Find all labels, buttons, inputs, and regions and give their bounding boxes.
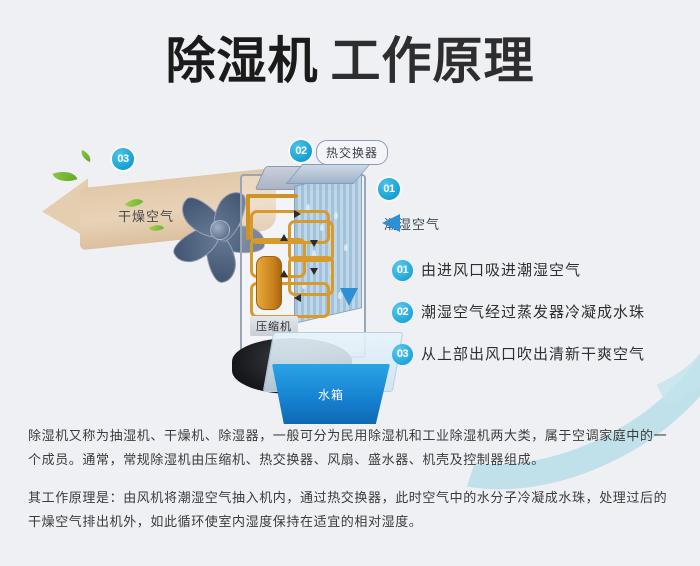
page-title: 除湿机工作原理 bbox=[0, 30, 700, 92]
water-tank-label: 水箱 bbox=[318, 386, 344, 403]
step-item-01: 01 由进风口吸进潮湿空气 bbox=[392, 258, 692, 300]
infographic-page: 除湿机工作原理 干燥空气 潮湿空气 03 02 01 热交换器 bbox=[0, 0, 700, 566]
heat-exchanger-callout: 热交换器 bbox=[316, 140, 388, 165]
flow-arrow-down bbox=[310, 268, 318, 275]
flow-arrow-right bbox=[294, 210, 301, 218]
steps-list: 01 由进风口吸进潮湿空气 02 潮湿空气经过蒸发器冷凝成水珠 03 从上部出风… bbox=[392, 258, 692, 384]
diagram-badge-02: 02 bbox=[290, 140, 312, 162]
step-badge-01: 01 bbox=[392, 260, 413, 281]
water-droplet bbox=[334, 212, 338, 219]
flow-arrow-left bbox=[294, 294, 301, 302]
title-part-2: 工作原理 bbox=[331, 33, 535, 89]
step-text-02: 潮湿空气经过蒸发器冷凝成水珠 bbox=[421, 301, 645, 322]
refrigerant-pipe bbox=[246, 194, 250, 240]
flow-arrow-up bbox=[280, 234, 288, 241]
fan-hub bbox=[210, 220, 230, 240]
diagram-badge-03: 03 bbox=[112, 148, 134, 170]
step-badge-02: 02 bbox=[392, 302, 413, 323]
description-paragraph-1: 除湿机又称为抽湿机、干燥机、除湿器，一般可分为民用除湿机和工业除湿机两大类，属于… bbox=[28, 424, 676, 472]
refrigerant-pipe bbox=[246, 194, 298, 198]
description-paragraph-2: 其工作原理是：由风机将潮湿空气抽入机内，通过热交换器，此时空气中的水分子冷凝成水… bbox=[28, 486, 676, 534]
title-part-1: 除湿机 bbox=[166, 33, 319, 89]
step-badge-03: 03 bbox=[392, 344, 413, 365]
water-droplet bbox=[344, 244, 348, 251]
leaf-icon bbox=[79, 150, 93, 162]
compressor-cylinder bbox=[256, 256, 282, 310]
step-text-01: 由进风口吸进潮湿空气 bbox=[421, 259, 581, 280]
dry-air-label: 干燥空气 bbox=[118, 206, 174, 225]
condensate-arrow bbox=[340, 288, 358, 306]
step-item-02: 02 潮湿空气经过蒸发器冷凝成水珠 bbox=[392, 300, 692, 342]
intake-arrow bbox=[382, 214, 400, 232]
step-item-03: 03 从上部出风口吹出清新干爽空气 bbox=[392, 342, 692, 384]
flow-arrow-down bbox=[310, 240, 318, 247]
step-text-03: 从上部出风口吹出清新干爽空气 bbox=[421, 343, 645, 364]
flow-arrow-up bbox=[280, 270, 288, 277]
